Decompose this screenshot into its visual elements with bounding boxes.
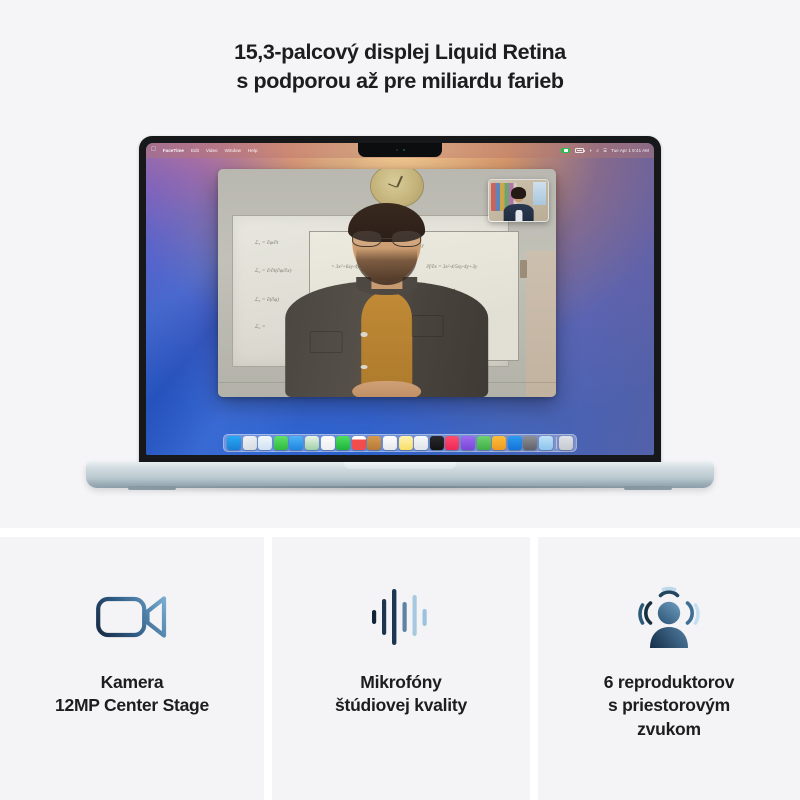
dock-app-facetime[interactable] [336, 436, 350, 450]
dock-app-launchpad[interactable] [243, 436, 257, 450]
door-knob [520, 260, 527, 278]
pip-window [533, 182, 546, 205]
facetime-window[interactable]: ℒ₁ = ∂φ/∂t ℒ₂ = ∂/∂t(∂φ/∂x) ℒ₃ = ∂(∂φ) ℒ… [218, 169, 556, 397]
dock-app-maps[interactable] [305, 436, 319, 450]
video-camera-icon [95, 581, 169, 653]
feature-cards: Kamera 12MP Center Stage Mikrofóny štúdi… [0, 537, 800, 800]
menu-item-help[interactable]: Help [248, 148, 257, 153]
dock-app-freeform[interactable] [414, 436, 428, 450]
dock-app-appletv[interactable] [430, 436, 444, 450]
search-icon[interactable]: ⌕ [596, 148, 599, 154]
feature-card-microphones[interactable]: Mikrofóny štúdiovej kvality [272, 537, 530, 800]
menu-item-video[interactable]: Video [206, 148, 218, 153]
dock-app-settings[interactable] [523, 436, 537, 450]
menu-item-edit[interactable]: Edit [191, 148, 199, 153]
feature-label-camera: Kamera 12MP Center Stage [55, 671, 209, 718]
feature-card-speakers[interactable]: 6 reproduktorov s priestorovým zvukom [538, 537, 800, 800]
feature-card-camera[interactable]: Kamera 12MP Center Stage [0, 537, 264, 800]
dock-app-photos[interactable] [321, 436, 335, 450]
page-root: 15,3-palcový displej Liquid Retina s pod… [0, 0, 800, 800]
dock-app-podcasts[interactable] [461, 436, 475, 450]
menu-item-window[interactable]: Window [225, 148, 241, 153]
laptop-screen:  FaceTime Edit Video Window Help ◑ ⌕ [146, 143, 654, 455]
dock-app-numbers[interactable] [476, 436, 490, 450]
dock-app-notes[interactable] [398, 436, 412, 450]
jacket-pocket-right [411, 315, 443, 337]
facetime-pip-thumbnail[interactable] [488, 179, 549, 222]
dock-app-appstore[interactable] [508, 436, 522, 450]
audio-waveform-icon [370, 581, 432, 653]
classroom-door [526, 251, 556, 397]
dock-app-calendar[interactable] [352, 436, 366, 450]
menu-bar-status-area: ◑ ⌕ ⌸ Tue Apr 1 9:41 AM [561, 148, 649, 154]
front-camera-icon [396, 149, 398, 151]
display-notch [358, 143, 442, 157]
feature-label-speakers: 6 reproduktorov s priestorovým zvukom [604, 671, 734, 741]
menu-bar-left:  FaceTime Edit Video Window Help [151, 147, 257, 154]
hero-panel: 15,3-palcový displej Liquid Retina s pod… [0, 0, 800, 528]
dock-app-contacts[interactable] [367, 436, 381, 450]
dock-app-music[interactable] [445, 436, 459, 450]
participant-glasses-icon [353, 231, 422, 246]
battery-icon[interactable] [575, 148, 585, 153]
laptop-base [86, 462, 714, 488]
dock-app-finder[interactable] [227, 436, 241, 450]
dock-app-messages[interactable] [274, 436, 288, 450]
camera-active-icon [561, 148, 570, 154]
laptop-shadow [98, 486, 702, 495]
pip-participant-shirt [515, 210, 522, 221]
jacket-pocket-left [310, 331, 342, 353]
participant-hands [353, 381, 422, 397]
dock-separator [556, 437, 557, 449]
menu-app-name[interactable]: FaceTime [163, 148, 184, 153]
dock-app-pages[interactable] [492, 436, 506, 450]
dock-app-safari[interactable] [258, 436, 272, 450]
pip-participant-hair [511, 187, 527, 199]
apple-logo-icon[interactable]:  [151, 147, 156, 154]
dock-app-reminders[interactable] [383, 436, 397, 450]
macos-dock[interactable] [223, 434, 577, 452]
control-center-icon[interactable]: ⌸ [604, 148, 607, 154]
dock-app-trash[interactable] [559, 436, 573, 450]
laptop-lid:  FaceTime Edit Video Window Help ◑ ⌕ [139, 136, 661, 468]
wifi-icon[interactable]: ◑ [589, 148, 592, 154]
jacket-button-bottom [361, 365, 368, 369]
page-title: 15,3-palcový displej Liquid Retina s pod… [0, 38, 800, 95]
spatial-audio-person-icon [634, 581, 704, 653]
call-participant-teacher [286, 196, 489, 397]
macbook-air-device:  FaceTime Edit Video Window Help ◑ ⌕ [86, 136, 714, 500]
dock-app-preview[interactable] [539, 436, 553, 450]
feature-label-microphones: Mikrofóny štúdiovej kvality [335, 671, 467, 718]
menu-bar-clock[interactable]: Tue Apr 1 9:41 AM [611, 148, 649, 153]
camera-led-icon [403, 149, 405, 151]
dock-app-mail[interactable] [289, 436, 303, 450]
